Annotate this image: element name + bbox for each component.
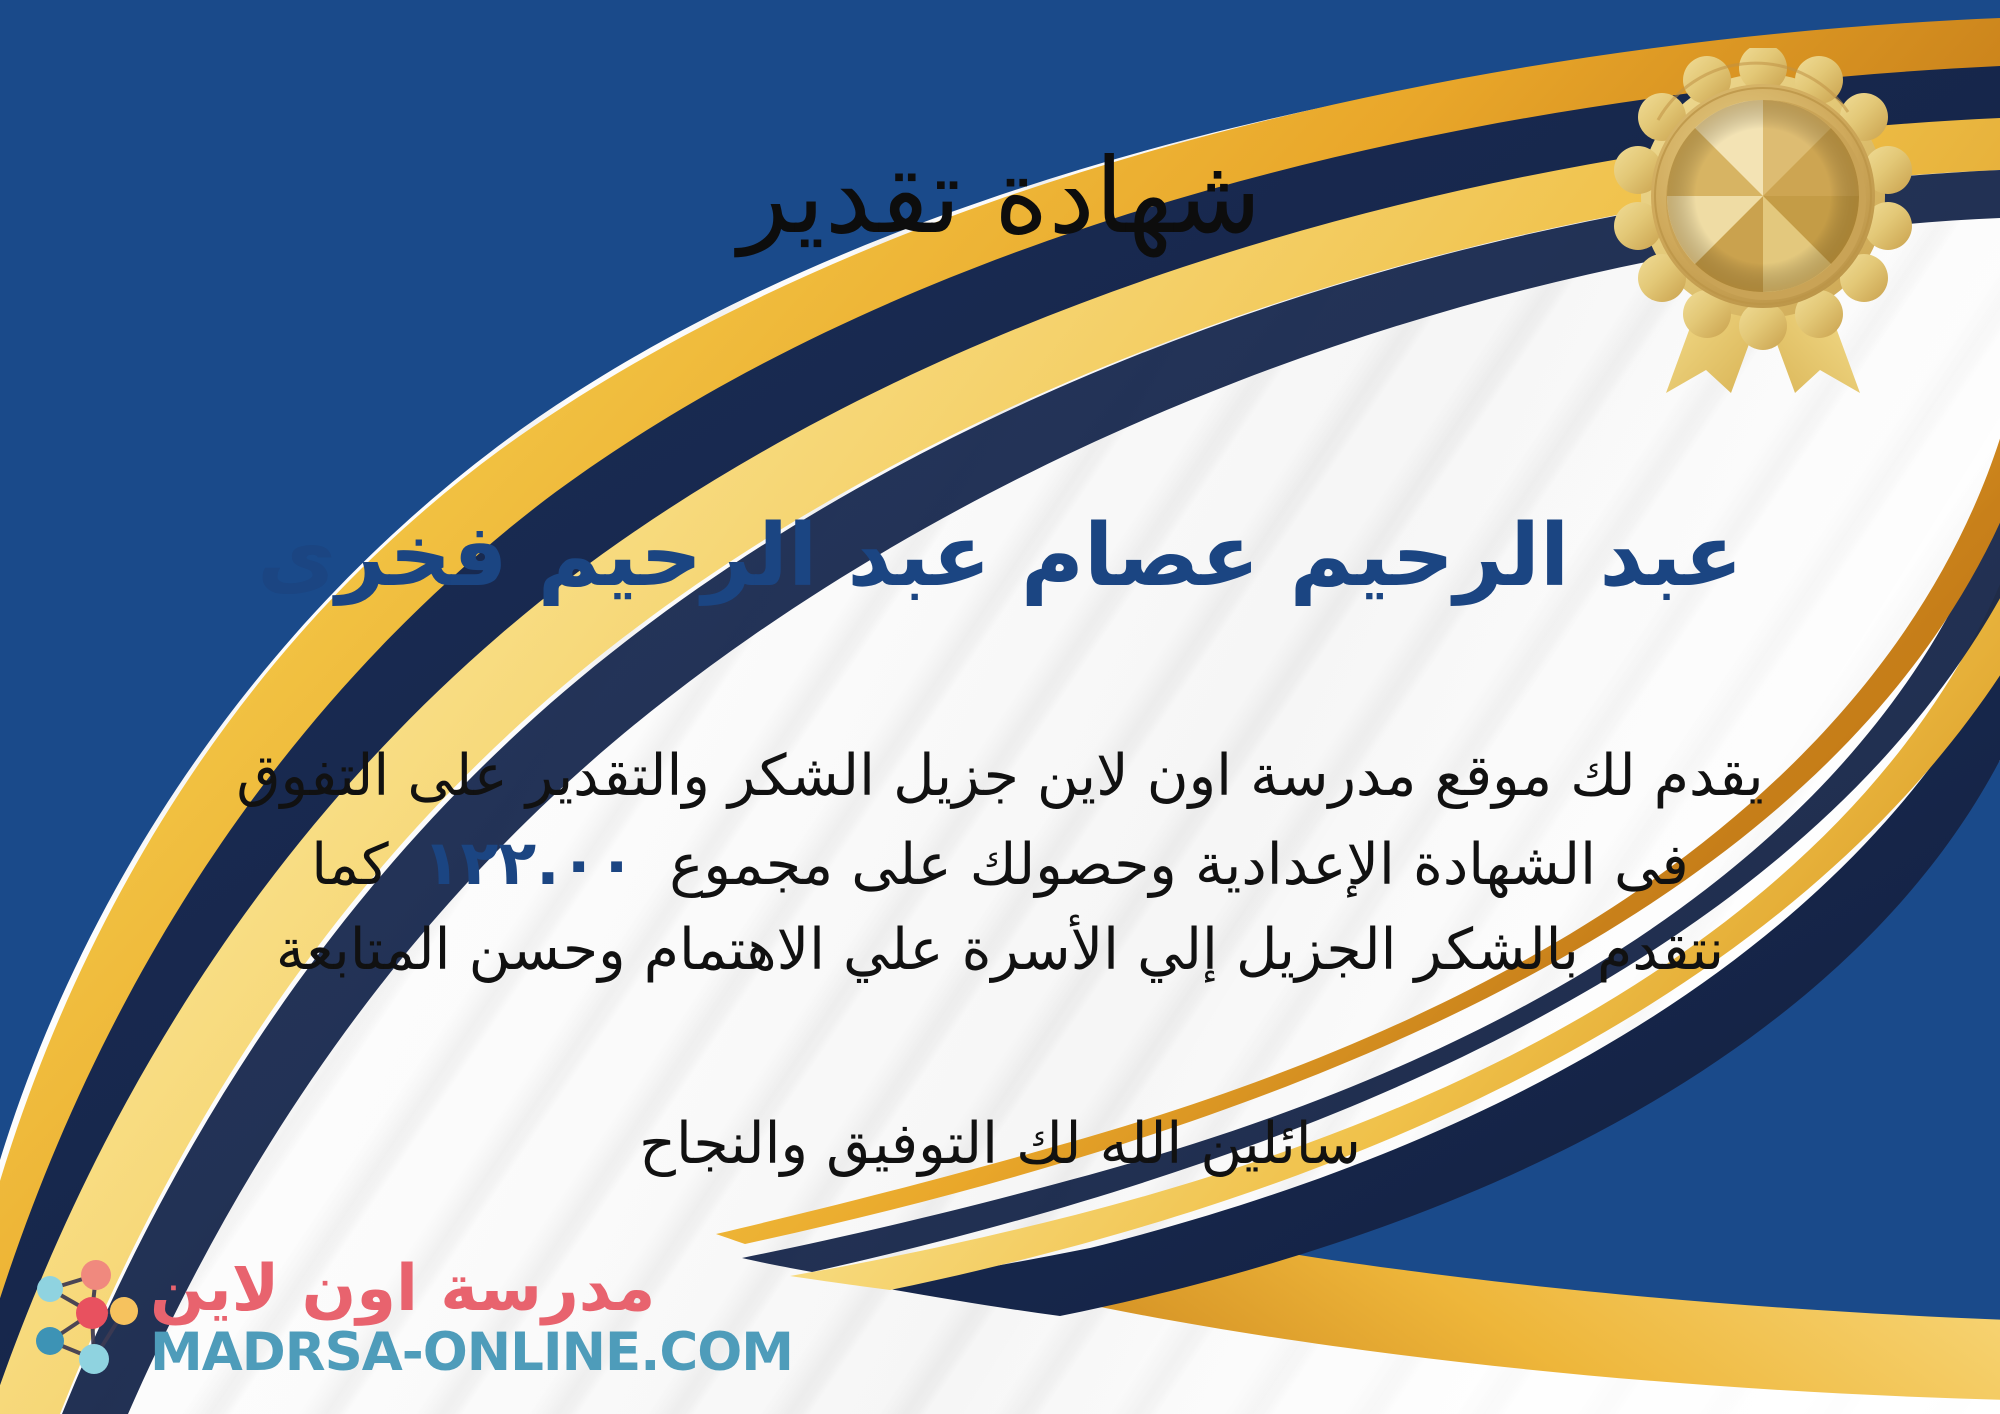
closing-line: سائلين الله لك التوفيق والنجاح	[0, 1105, 2000, 1185]
body-line-2-left: كما	[311, 832, 388, 898]
brand-website[interactable]: MADRSA-ONLINE.COM	[150, 1325, 793, 1381]
certificate-body: يقدم لك موقع مدرسة اون لاين جزيل الشكر و…	[60, 735, 1940, 992]
body-line-3: نتقدم بالشكر الجزيل إلي الأسرة علي الاهت…	[60, 909, 1940, 992]
certificate-page: شهادة تقدير عبد الرحيم عصام عبد الرحيم ف…	[0, 0, 2000, 1414]
recipient-name: عبد الرحيم عصام عبد الرحيم فخرى	[0, 508, 2000, 604]
brand-wordmark: مدرسة اون لاين MADRSA-ONLINE.COM	[150, 1257, 793, 1381]
page-title: شهادة تقدير	[0, 140, 2000, 252]
certificate-content: شهادة تقدير عبد الرحيم عصام عبد الرحيم ف…	[0, 0, 2000, 1414]
network-nodes-icon	[22, 1255, 142, 1383]
body-line-2: فى الشهادة الإعدادية وحصولك على مجموع١٢٢…	[60, 818, 1940, 909]
body-line-2-right: فى الشهادة الإعدادية وحصولك على مجموع	[669, 832, 1688, 898]
brand-arabic-name: مدرسة اون لاين	[150, 1257, 655, 1321]
body-line-1: يقدم لك موقع مدرسة اون لاين جزيل الشكر و…	[60, 735, 1940, 818]
grade-total: ١٢٢.٠٠	[389, 826, 670, 899]
brand-logo[interactable]: مدرسة اون لاين MADRSA-ONLINE.COM	[22, 1244, 582, 1394]
